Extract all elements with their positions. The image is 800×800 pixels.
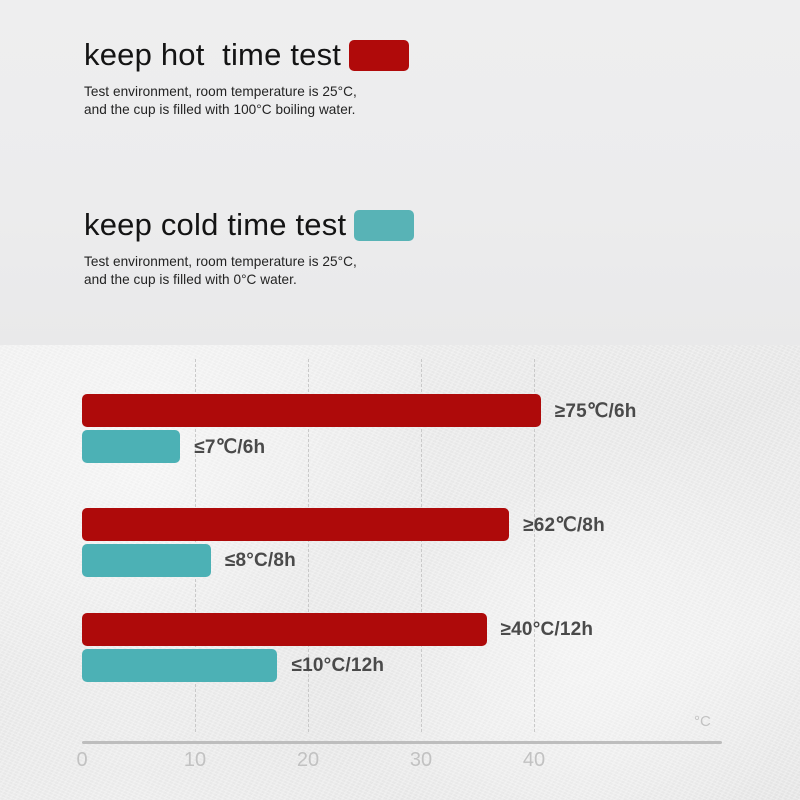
infographic-page: keep hot time test Test environment, roo… (0, 0, 800, 800)
keep-hot-title-row: keep hot time test (84, 38, 409, 72)
bar-value-label-keep-hot-8h: ≥62℃/8h (523, 514, 605, 537)
bar-keep-hot-12h (82, 613, 487, 646)
bar-value-label-keep-cold-12h: ≤10°C/12h (291, 655, 384, 677)
bar-keep-hot-8h (82, 508, 509, 541)
intro-section: keep hot time test Test environment, roo… (0, 0, 800, 345)
bar-value-label-keep-hot-12h: ≥40°C/12h (501, 619, 594, 641)
x-tick-label-40: 40 (523, 749, 545, 772)
keep-hot-title: keep hot time test (84, 38, 341, 72)
bar-chart: °C 010203040≥75℃/6h≤7℃/6h≥62℃/8h≤8°C/8h≥… (0, 345, 800, 800)
x-axis-unit-label: °C (694, 713, 711, 730)
keep-hot-description: Test environment, room temperature is 25… (84, 83, 409, 119)
bar-keep-hot-6h (82, 394, 541, 427)
bar-value-label-keep-cold-6h: ≤7℃/6h (194, 436, 265, 459)
keep-cold-block: keep cold time test Test environment, ro… (84, 208, 414, 289)
plot-area: °C 010203040≥75℃/6h≤7℃/6h≥62℃/8h≤8°C/8h≥… (0, 345, 800, 800)
x-tick-label-10: 10 (184, 749, 206, 772)
keep-cold-title-row: keep cold time test (84, 208, 414, 242)
bar-value-label-keep-cold-8h: ≤8°C/8h (225, 550, 296, 572)
hot-legend-swatch (349, 40, 409, 71)
keep-cold-description: Test environment, room temperature is 25… (84, 253, 414, 289)
cold-legend-swatch (354, 210, 414, 241)
x-tick-label-30: 30 (410, 749, 432, 772)
keep-cold-title: keep cold time test (84, 208, 346, 242)
bar-value-label-keep-hot-6h: ≥75℃/6h (555, 400, 637, 423)
bar-keep-cold-12h (82, 649, 277, 682)
x-tick-label-0: 0 (76, 749, 87, 772)
bar-keep-cold-6h (82, 430, 180, 463)
bar-keep-cold-8h (82, 544, 211, 577)
x-axis-line (82, 741, 722, 744)
keep-hot-block: keep hot time test Test environment, roo… (84, 38, 409, 119)
x-tick-label-20: 20 (297, 749, 319, 772)
